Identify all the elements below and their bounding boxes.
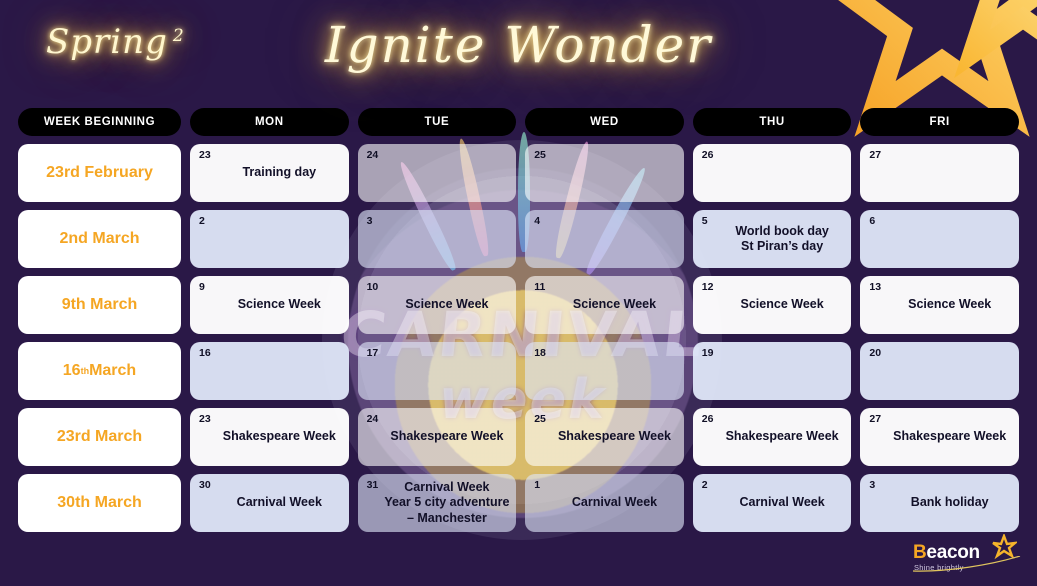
week-label-main: 16	[63, 362, 81, 380]
day-number: 30	[199, 479, 211, 491]
beacon-logo: Beacon Shine brightly	[913, 536, 1021, 576]
day-number: 11	[534, 281, 545, 293]
day-event-text: Science Week	[719, 276, 846, 334]
day-number: 25	[534, 413, 546, 425]
calendar-day-cell[interactable]: 19	[693, 342, 852, 400]
day-event-text: Shakespeare Week	[719, 408, 846, 466]
day-number: 20	[869, 347, 881, 359]
day-number: 18	[534, 347, 546, 359]
day-number: 23	[199, 149, 211, 161]
day-event-text: Carnival Week	[551, 474, 678, 532]
week-label-ordinal: th	[81, 366, 90, 376]
page-title: Ignite Wonder	[0, 16, 1037, 74]
day-number: 23	[199, 413, 211, 425]
calendar-day-cell[interactable]: 2Carnival Week	[693, 474, 852, 532]
week-beginning-cell: 16th March	[18, 342, 181, 400]
day-number: 17	[367, 347, 379, 359]
week-beginning-cell: 2nd March	[18, 210, 181, 268]
day-number: 16	[199, 347, 211, 359]
day-event-text: Training day	[216, 144, 343, 202]
day-number: 2	[199, 215, 205, 227]
calendar-day-cell[interactable]: 10Science Week	[358, 276, 517, 334]
calendar-day-cell[interactable]: 27	[860, 144, 1019, 202]
week-beginning-cell: 23rd February	[18, 144, 181, 202]
day-event-text: Shakespeare Week	[384, 408, 511, 466]
day-number: 10	[367, 281, 379, 293]
day-event-text: Carnival WeekYear 5 city adventure– Manc…	[384, 474, 511, 532]
day-event-text: Shakespeare Week	[886, 408, 1013, 466]
calendar-day-cell[interactable]: 25	[525, 144, 684, 202]
day-number: 24	[367, 413, 379, 425]
day-number: 13	[869, 281, 881, 293]
calendar-day-cell[interactable]: 18	[525, 342, 684, 400]
calendar-day-cell[interactable]: 30Carnival Week	[190, 474, 349, 532]
day-number: 6	[869, 215, 875, 227]
column-header-tue: TUE	[358, 108, 517, 136]
day-number: 4	[534, 215, 540, 227]
calendar-day-cell[interactable]: 9Science Week	[190, 276, 349, 334]
day-number: 25	[534, 149, 546, 161]
calendar-day-cell[interactable]: 11Science Week	[525, 276, 684, 334]
day-number: 26	[702, 413, 714, 425]
day-event-text: World book daySt Piran’s day	[719, 210, 846, 268]
day-event-text: Science Week	[384, 276, 511, 334]
calendar-day-cell[interactable]: 23Shakespeare Week	[190, 408, 349, 466]
day-event-text: Carnival Week	[719, 474, 846, 532]
day-number: 2	[702, 479, 708, 491]
calendar-day-cell[interactable]: 16	[190, 342, 349, 400]
calendar-day-cell[interactable]: 5World book daySt Piran’s day	[693, 210, 852, 268]
column-header-week-beginning: WEEK BEGINNING	[18, 108, 181, 136]
calendar-day-cell[interactable]: 23Training day	[190, 144, 349, 202]
day-number: 3	[869, 479, 875, 491]
day-event-text: Shakespeare Week	[216, 408, 343, 466]
day-event-text: Science Week	[886, 276, 1013, 334]
day-number: 19	[702, 347, 714, 359]
day-number: 5	[702, 215, 708, 227]
calendar-day-cell[interactable]: 12Science Week	[693, 276, 852, 334]
day-event-text: Shakespeare Week	[551, 408, 678, 466]
day-number: 3	[367, 215, 373, 227]
day-event-text: Science Week	[551, 276, 678, 334]
calendar-day-cell[interactable]: 3	[358, 210, 517, 268]
week-beginning-cell: 23rd March	[18, 408, 181, 466]
week-beginning-cell: 9th March	[18, 276, 181, 334]
calendar-day-cell[interactable]: 25Shakespeare Week	[525, 408, 684, 466]
calendar-day-cell[interactable]: 13Science Week	[860, 276, 1019, 334]
column-header-wed: WED	[525, 108, 684, 136]
calendar-day-cell[interactable]: 20	[860, 342, 1019, 400]
day-number: 9	[199, 281, 205, 293]
day-number: 27	[869, 413, 881, 425]
week-label-month: March	[89, 362, 136, 380]
day-number: 24	[367, 149, 379, 161]
beacon-swoosh-icon	[913, 556, 1021, 577]
calendar-day-cell[interactable]: 1Carnival Week	[525, 474, 684, 532]
day-event-text: Science Week	[216, 276, 343, 334]
calendar-day-cell[interactable]: 27Shakespeare Week	[860, 408, 1019, 466]
day-number: 31	[367, 479, 379, 491]
week-beginning-cell: 30th March	[18, 474, 181, 532]
calendar-day-cell[interactable]: 24	[358, 144, 517, 202]
column-header-thu: THU	[693, 108, 852, 136]
day-number: 26	[702, 149, 714, 161]
day-number: 12	[702, 281, 714, 293]
column-header-mon: MON	[190, 108, 349, 136]
calendar-day-cell[interactable]: 2	[190, 210, 349, 268]
day-number: 27	[869, 149, 881, 161]
day-number: 1	[534, 479, 540, 491]
day-event-text: Carnival Week	[216, 474, 343, 532]
calendar-day-cell[interactable]: 26	[693, 144, 852, 202]
calendar-grid: WEEK BEGINNINGMONTUEWEDTHUFRI23rd Februa…	[18, 108, 1019, 532]
calendar-day-cell[interactable]: 24Shakespeare Week	[358, 408, 517, 466]
calendar-day-cell[interactable]: 26Shakespeare Week	[693, 408, 852, 466]
calendar-day-cell[interactable]: 3Bank holiday	[860, 474, 1019, 532]
day-event-text: Bank holiday	[886, 474, 1013, 532]
column-header-fri: FRI	[860, 108, 1019, 136]
calendar-day-cell[interactable]: 17	[358, 342, 517, 400]
calendar-day-cell[interactable]: 6	[860, 210, 1019, 268]
calendar-day-cell[interactable]: 4	[525, 210, 684, 268]
calendar-day-cell[interactable]: 31Carnival WeekYear 5 city adventure– Ma…	[358, 474, 517, 532]
